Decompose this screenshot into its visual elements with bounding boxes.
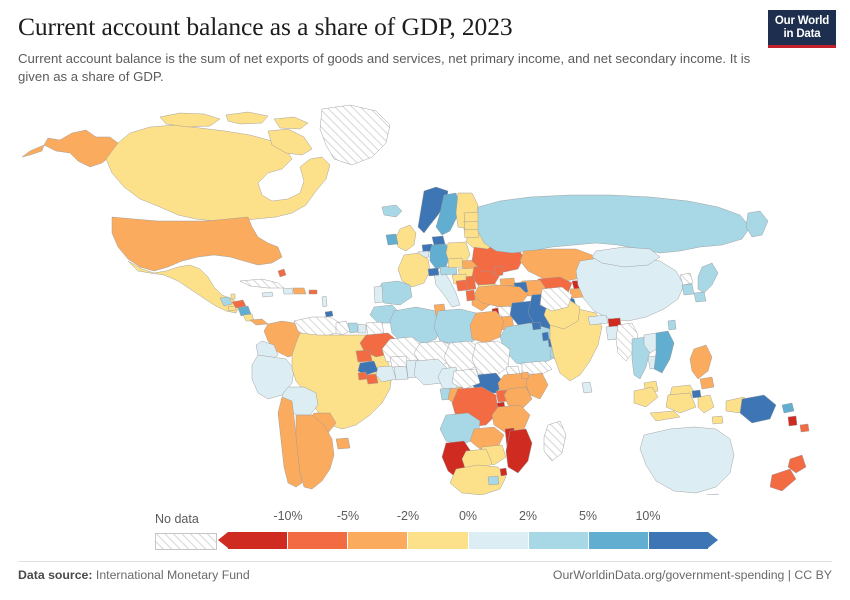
country-switzerland[interactable] [428, 268, 439, 276]
choropleth-map[interactable] [0, 95, 850, 495]
legend-tick-labels: -10% -5% -2% 0% 2% 5% 10% [228, 505, 708, 525]
country-djibouti[interactable] [521, 372, 529, 379]
country-madagascar[interactable] [544, 421, 566, 461]
legend-tick-4: 2% [519, 510, 537, 523]
legend-color-ramp[interactable]: -10% -5% -2% 0% 2% 5% 10% [228, 505, 708, 560]
country-france[interactable] [398, 253, 430, 287]
country-denmark[interactable] [432, 236, 445, 245]
country-russia-kamchatka[interactable] [746, 211, 768, 237]
country-united-kingdom[interactable] [396, 225, 416, 251]
country-lesotho[interactable] [488, 476, 499, 485]
legend-bins[interactable] [228, 532, 708, 549]
country-canada-arctic-1[interactable] [160, 113, 220, 127]
legend-bin-6[interactable] [589, 532, 649, 549]
country-albania[interactable] [466, 290, 475, 301]
country-new-zealand-south[interactable] [770, 469, 796, 491]
country-uruguay[interactable] [336, 438, 350, 449]
legend-bin-3[interactable] [408, 532, 468, 549]
country-united-states[interactable] [112, 217, 282, 271]
country-philippines[interactable] [690, 345, 712, 379]
country-philippines-south[interactable] [700, 377, 714, 389]
owid-logo-line1: Our World [775, 15, 829, 27]
country-trinidad[interactable] [325, 311, 333, 317]
country-shapes[interactable] [22, 105, 809, 495]
country-panama[interactable] [250, 319, 268, 325]
country-egypt[interactable] [470, 311, 504, 343]
country-solomon-islands[interactable] [782, 403, 794, 413]
country-japan[interactable] [698, 263, 718, 293]
country-taiwan[interactable] [668, 320, 676, 330]
legend-tick-5: 5% [579, 510, 597, 523]
country-aleutian-islands[interactable] [22, 145, 44, 157]
country-bahamas[interactable] [278, 269, 286, 277]
chart-footer: Data source: International Monetary Fund… [0, 568, 850, 586]
country-senegal[interactable] [356, 350, 372, 362]
country-french-guiana[interactable] [358, 324, 366, 333]
country-dominican-republic[interactable] [293, 288, 306, 294]
country-mexico[interactable] [128, 261, 240, 313]
data-source-value: International Monetary Fund [96, 568, 250, 582]
owid-logo[interactable]: Our Worldin Data [768, 10, 836, 48]
legend-no-data-group[interactable]: No data [155, 513, 227, 550]
country-greenland[interactable] [320, 105, 390, 165]
chart-subtitle: Current account balance is the sum of ne… [18, 50, 753, 86]
country-canada-arctic-2[interactable] [226, 112, 268, 124]
country-czechia[interactable] [448, 258, 463, 268]
country-jamaica[interactable] [262, 292, 273, 297]
country-papua-new-guinea[interactable] [740, 395, 776, 423]
legend-bin-7[interactable] [649, 532, 708, 549]
legend-bin-5[interactable] [529, 532, 589, 549]
hatch-swatch-icon [156, 534, 216, 549]
country-haiti[interactable] [283, 288, 293, 294]
legend-tick-3: 0% [459, 510, 477, 523]
country-canada-arctic-3[interactable] [274, 117, 308, 129]
country-tasmania[interactable] [706, 494, 720, 495]
country-sri-lanka[interactable] [582, 382, 592, 393]
legend-bin-4[interactable] [469, 532, 529, 549]
legend-tick-2: -2% [397, 510, 419, 523]
legend-bin-0[interactable] [228, 532, 288, 549]
country-south-korea[interactable] [682, 284, 694, 295]
country-sudan[interactable] [472, 341, 510, 377]
country-bosnia[interactable] [456, 280, 468, 291]
world-map-svg[interactable] [0, 95, 850, 495]
country-australia[interactable] [640, 427, 734, 493]
country-ghana[interactable] [394, 366, 408, 380]
legend-bin-1[interactable] [288, 532, 348, 549]
legend-cap-left-icon [218, 532, 228, 548]
country-burkina-faso[interactable] [390, 356, 408, 367]
data-source: Data source: International Monetary Fund [18, 568, 250, 582]
legend-no-data-label: No data [155, 513, 227, 526]
country-nepal[interactable] [588, 315, 608, 325]
data-source-label: Data source: [18, 568, 93, 582]
legend-no-data-swatch[interactable] [155, 533, 217, 550]
legend-tick-1: -5% [337, 510, 359, 523]
country-eswatini[interactable] [500, 468, 507, 476]
country-iceland[interactable] [382, 205, 402, 217]
country-belize[interactable] [231, 294, 235, 299]
country-russia[interactable] [478, 195, 750, 253]
legend-cap-right-icon [708, 532, 718, 548]
country-kuwait[interactable] [532, 322, 541, 330]
country-sierra-leone[interactable] [358, 372, 367, 380]
page-title: Current account balance as a share of GD… [18, 12, 758, 41]
country-puerto-rico[interactable] [309, 290, 317, 294]
legend-tick-0: -10% [273, 510, 302, 523]
country-moldova[interactable] [494, 266, 503, 276]
country-el-salvador[interactable] [228, 306, 236, 311]
country-cuba[interactable] [240, 279, 284, 288]
owid-chart-page: Current account balance as a share of GD… [0, 0, 850, 600]
country-brunei[interactable] [692, 390, 701, 398]
country-portugal[interactable] [374, 286, 383, 303]
legend-tick-6: 10% [635, 510, 660, 523]
attribution[interactable]: OurWorldinData.org/government-spending |… [553, 568, 832, 582]
country-mozambique[interactable] [506, 429, 532, 473]
footer-divider [18, 561, 832, 562]
map-legend[interactable]: No data -10% -5% -2% 0% 2% 5% 10% [0, 505, 850, 560]
country-qatar[interactable] [542, 332, 549, 341]
country-timor-leste[interactable] [712, 416, 723, 424]
country-fiji[interactable] [800, 424, 809, 432]
country-indonesia-java[interactable] [650, 411, 680, 421]
country-vietnam[interactable] [654, 331, 674, 373]
legend-bin-2[interactable] [348, 532, 408, 549]
owid-logo-text: Our Worldin Data [768, 15, 836, 45]
country-japan-south[interactable] [694, 292, 706, 302]
country-ireland[interactable] [386, 234, 398, 245]
country-indonesia-borneo[interactable] [666, 393, 696, 413]
country-vanuatu[interactable] [788, 416, 797, 426]
country-indonesia-sulawesi[interactable] [698, 395, 714, 413]
country-lesser-antilles[interactable] [322, 296, 327, 307]
owid-logo-rule [768, 45, 836, 48]
chart-header: Current account balance as a share of GD… [18, 12, 758, 86]
country-suriname[interactable] [348, 323, 358, 333]
owid-logo-line2: in Data [784, 28, 821, 40]
